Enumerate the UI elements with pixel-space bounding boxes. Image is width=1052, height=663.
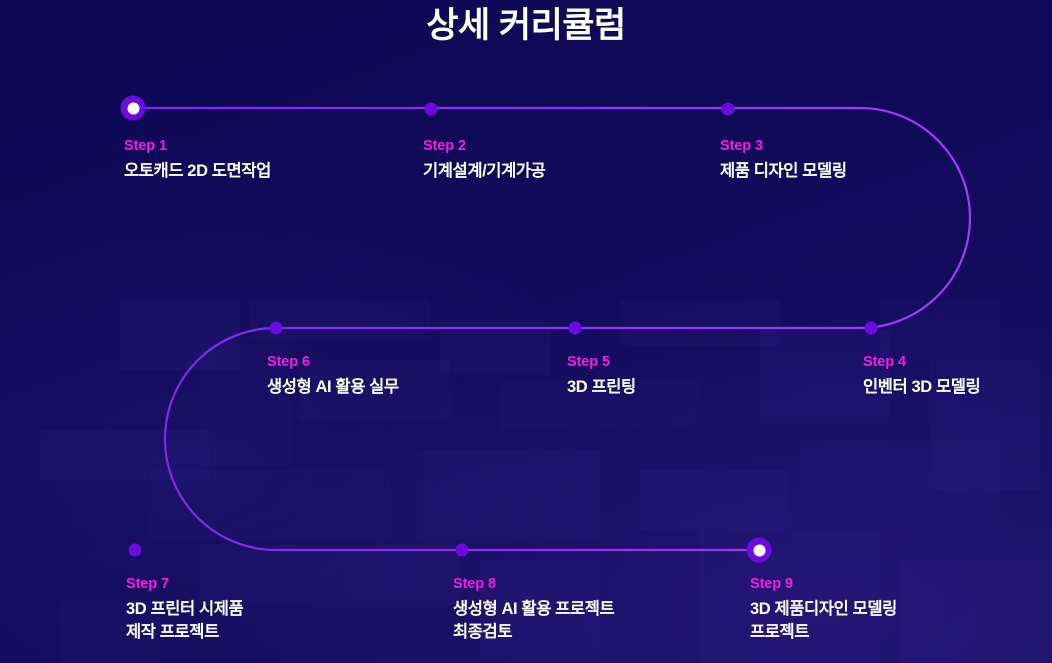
small-node-icon	[569, 322, 582, 335]
step-label-line1: 생성형 AI 활용 실무	[267, 376, 399, 399]
step-number: Step 7	[126, 576, 243, 593]
node-step-4[interactable]	[865, 322, 878, 335]
step-item-5[interactable]: Step 5 3D 프린팅	[567, 354, 636, 399]
large-node-icon	[747, 538, 772, 563]
step-label-line2: 프로젝트	[750, 621, 897, 644]
node-step-7[interactable]	[129, 544, 142, 557]
node-step-1[interactable]	[121, 96, 146, 121]
node-step-6[interactable]	[270, 322, 283, 335]
step-number: Step 4	[863, 354, 980, 371]
step-number: Step 8	[453, 576, 614, 593]
step-number: Step 3	[720, 138, 847, 155]
small-node-icon	[865, 322, 878, 335]
step-item-6[interactable]: Step 6 생성형 AI 활용 실무	[267, 354, 399, 399]
step-label-line1: 3D 프린팅	[567, 376, 636, 399]
step-number: Step 5	[567, 354, 636, 371]
step-label-line1: 3D 프린터 시제품	[126, 598, 243, 621]
step-item-9[interactable]: Step 9 3D 제품디자인 모델링 프로젝트	[750, 576, 897, 644]
step-label-line1: 제품 디자인 모델링	[720, 160, 847, 183]
step-label-line1: 오토캐드 2D 도면작업	[124, 160, 271, 183]
node-step-5[interactable]	[569, 322, 582, 335]
large-node-icon	[121, 96, 146, 121]
step-label-line1: 3D 제품디자인 모델링	[750, 598, 897, 621]
step-item-3[interactable]: Step 3 제품 디자인 모델링	[720, 138, 847, 183]
node-step-2[interactable]	[425, 103, 438, 116]
small-node-icon	[456, 544, 469, 557]
step-number: Step 1	[124, 138, 271, 155]
step-label-line1: 인벤터 3D 모델링	[863, 376, 980, 399]
step-item-8[interactable]: Step 8 생성형 AI 활용 프로젝트 최종검토	[453, 576, 614, 644]
small-node-icon	[270, 322, 283, 335]
node-step-3[interactable]	[722, 103, 735, 116]
step-number: Step 9	[750, 576, 897, 593]
step-item-7[interactable]: Step 7 3D 프린터 시제품 제작 프로젝트	[126, 576, 243, 644]
step-item-1[interactable]: Step 1 오토캐드 2D 도면작업	[124, 138, 271, 183]
step-number: Step 6	[267, 354, 399, 371]
step-label-line2: 제작 프로젝트	[126, 621, 243, 644]
small-node-icon	[425, 103, 438, 116]
step-item-2[interactable]: Step 2 기계설계/기계가공	[423, 138, 545, 183]
step-number: Step 2	[423, 138, 545, 155]
curriculum-roadmap: 상세 커리큘럼 Step 1	[0, 0, 1052, 663]
step-item-4[interactable]: Step 4 인벤터 3D 모델링	[863, 354, 980, 399]
step-label-line2: 최종검토	[453, 621, 614, 644]
step-label-line1: 기계설계/기계가공	[423, 160, 545, 183]
roadmap-track	[0, 0, 1052, 663]
step-label-line1: 생성형 AI 활용 프로젝트	[453, 598, 614, 621]
small-node-icon	[722, 103, 735, 116]
small-node-icon	[129, 544, 142, 557]
node-step-9[interactable]	[747, 538, 772, 563]
node-step-8[interactable]	[456, 544, 469, 557]
